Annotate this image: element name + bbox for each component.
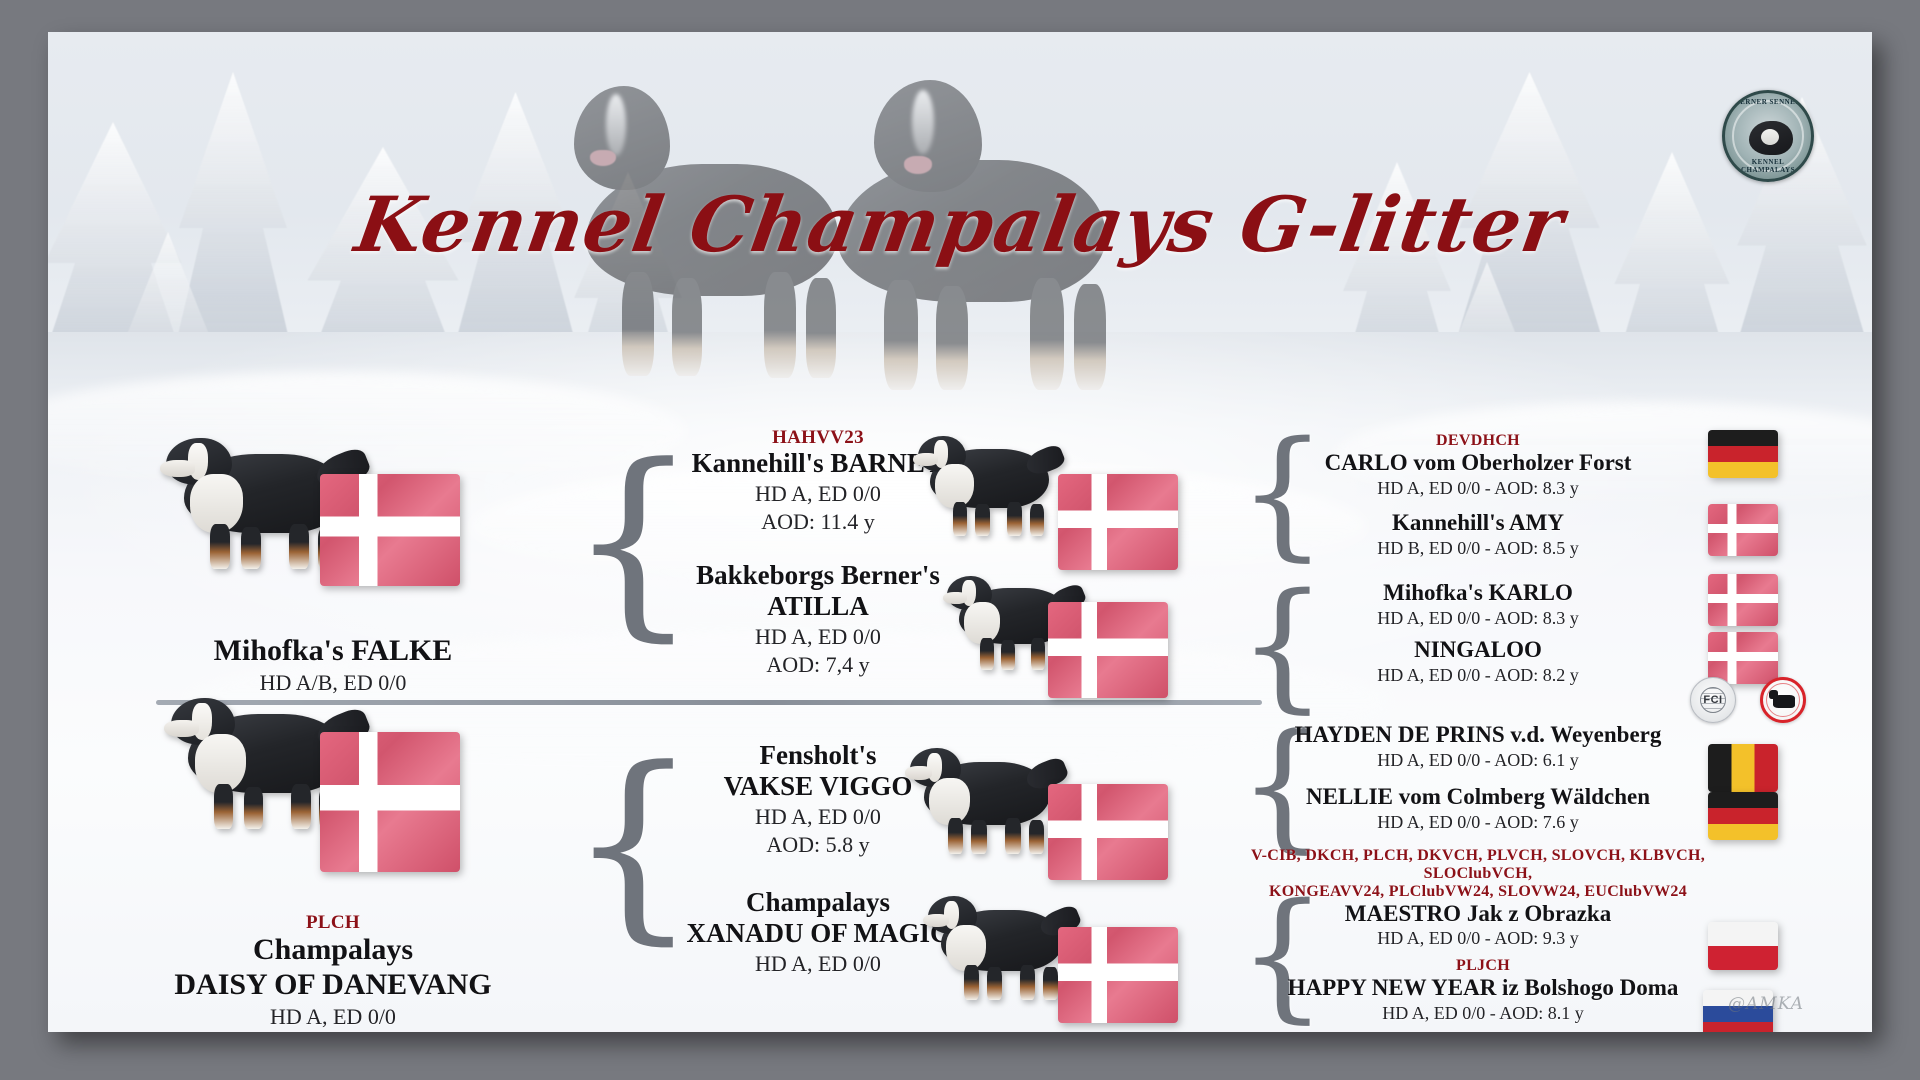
- dog-name-hayden: HAYDEN DE PRINS v.d. Weyenberg: [1253, 722, 1703, 749]
- flag-denmark-amy: [1708, 504, 1778, 556]
- flag-germany-nellie: [1708, 792, 1778, 840]
- pedigree-node-gen3-happynewyear: PLJCH HAPPY NEW YEAR iz Bolshogo Doma HD…: [1228, 957, 1738, 1025]
- dog-name-ningaloo: NINGALOO: [1258, 637, 1698, 664]
- dog-photo-viggo: [900, 744, 1070, 856]
- terrier-dog-icon: [1773, 695, 1795, 708]
- pedigree-node-gen3-ningaloo: NINGALOO HD A, ED 0/0 - AOD: 8.2 y: [1258, 637, 1698, 687]
- flag-denmark-barney: [1058, 474, 1178, 570]
- pedigree-node-gen3-maestro: V-CIB, DKCH, PLCH, DKVCH, PLVCH, SLOVCH,…: [1198, 847, 1758, 951]
- flag-denmark-falke: [320, 474, 460, 586]
- dog-health-ningaloo: HD A, ED 0/0 - AOD: 8.2 y: [1258, 664, 1698, 687]
- dog-health-karlo: HD A, ED 0/0 - AOD: 8.3 y: [1258, 607, 1698, 630]
- pedigree-node-gen3-carlo: DEVDHCH CARLO vom Oberholzer Forst HD A,…: [1258, 432, 1698, 500]
- pedigree-node-gen3-nellie: NELLIE vom Colmberg Wäldchen HD A, ED 0/…: [1253, 784, 1703, 834]
- fci-logo: FCI: [1690, 677, 1736, 723]
- emblem-dog-icon: [1749, 121, 1793, 155]
- pedigree-poster: Kennel Champalays G-litter BERNER SENNEN…: [48, 32, 1872, 1032]
- dog-health-amy: HD B, ED 0/0 - AOD: 8.5 y: [1258, 537, 1698, 560]
- dog-name-happynewyear: HAPPY NEW YEAR iz Bolshogo Doma: [1228, 975, 1738, 1002]
- flag-belgium-hayden: [1708, 744, 1778, 792]
- dog-titles-carlo: DEVDHCH: [1258, 432, 1698, 450]
- pedigree-node-gen1-sire: Mihofka's FALKE HD A/B, ED 0/0: [93, 634, 573, 697]
- pedigree-node-gen1-dam: PLCH Champalays DAISY OF DANEVANG HD A, …: [93, 912, 573, 1031]
- dog-titles-maestro-line2: KONGEAVV24, PLClubVW24, SLOVW24, EUClubV…: [1198, 883, 1758, 901]
- flag-denmark-viggo: [1048, 784, 1168, 880]
- flag-denmark-ningaloo: [1708, 632, 1778, 684]
- dog-name-nellie: NELLIE vom Colmberg Wäldchen: [1253, 784, 1703, 811]
- dog-photo-barney: [908, 432, 1068, 538]
- screenshot-stage: Kennel Champalays G-litter BERNER SENNEN…: [0, 0, 1920, 1080]
- dog-health-carlo: HD A, ED 0/0 - AOD: 8.3 y: [1258, 477, 1698, 500]
- dog-titles-happynewyear: PLJCH: [1228, 957, 1738, 975]
- dog-health-nellie: HD A, ED 0/0 - AOD: 7.6 y: [1253, 811, 1703, 834]
- dog-name-falke: Mihofka's FALKE: [93, 634, 573, 669]
- dog-health-maestro: HD A, ED 0/0 - AOD: 9.3 y: [1198, 927, 1758, 950]
- dog-titles-maestro-line1: V-CIB, DKCH, PLCH, DKVCH, PLVCH, SLOVCH,…: [1198, 847, 1758, 883]
- dog-name-maestro: MAESTRO Jak z Obrazka: [1198, 901, 1758, 928]
- pedigree-node-gen3-hayden: HAYDEN DE PRINS v.d. Weyenberg HD A, ED …: [1253, 722, 1703, 772]
- dog-name-daisy-line2: DAISY OF DANEVANG: [93, 968, 573, 1003]
- pedigree-node-gen3-amy: Kannehill's AMY HD B, ED 0/0 - AOD: 8.5 …: [1258, 510, 1698, 560]
- flag-denmark-xanadu: [1058, 927, 1178, 1023]
- flag-germany-carlo: [1708, 430, 1778, 478]
- page-title: Kennel Champalays G-litter: [48, 180, 1872, 269]
- flag-denmark-daisy: [320, 732, 460, 872]
- emblem-top-text: BERNER SENNEN: [1725, 98, 1811, 106]
- flag-denmark-karlo: [1708, 574, 1778, 626]
- emblem-bottom-text: KENNEL CHAMPALAYS: [1725, 158, 1811, 174]
- pedigree-node-gen3-karlo: Mihofka's KARLO HD A, ED 0/0 - AOD: 8.3 …: [1258, 580, 1698, 630]
- dog-health-daisy: HD A, ED 0/0: [93, 1003, 573, 1032]
- kennel-emblem-logo: BERNER SENNEN KENNEL CHAMPALAYS: [1722, 90, 1814, 182]
- dog-health-hayden: HD A, ED 0/0 - AOD: 6.1 y: [1253, 749, 1703, 772]
- dog-name-karlo: Mihofka's KARLO: [1258, 580, 1698, 607]
- dkk-logo: [1760, 677, 1806, 723]
- dog-name-amy: Kannehill's AMY: [1258, 510, 1698, 537]
- dog-health-happynewyear: HD A, ED 0/0 - AOD: 8.1 y: [1228, 1002, 1738, 1025]
- dog-name-daisy-line1: Champalays: [93, 933, 573, 968]
- fci-logo-label: FCI: [1691, 694, 1735, 706]
- dog-name-carlo: CARLO vom Oberholzer Forst: [1258, 450, 1698, 477]
- dog-titles-daisy: PLCH: [93, 912, 573, 933]
- flag-denmark-atilla: [1048, 602, 1168, 698]
- watermark: @AMKA: [1728, 994, 1804, 1014]
